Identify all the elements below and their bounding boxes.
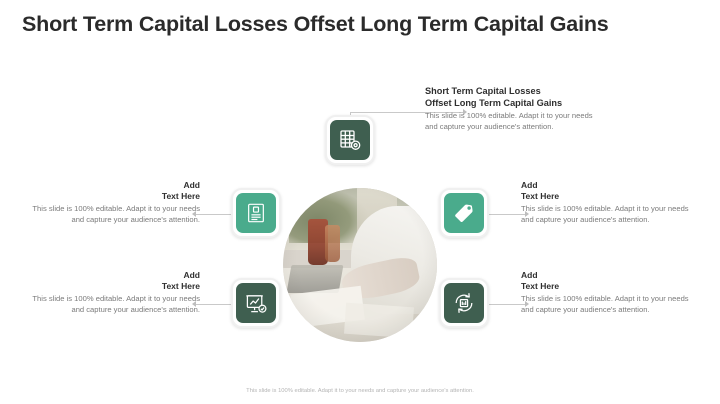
icon-tile-top[interactable] [325,115,375,165]
connector-segment [196,214,232,215]
page-title: Short Term Capital Losses Offset Long Te… [22,12,682,37]
icon-tile-left-2[interactable] [231,278,281,328]
text-block-top-body: This slide is 100% editable. Adapt it to… [425,111,603,132]
icon-tile-right-1-inner [444,193,484,233]
text-block-top: Short Term Capital Losses Offset Long Te… [425,86,603,132]
text-block-right-1-heading: Add Text Here [521,180,693,202]
price-tag-icon [452,201,476,225]
center-circular-photo [283,188,437,342]
table-grid-badge-icon [338,128,362,152]
text-block-left-1: Add Text Here This slide is 100% editabl… [28,180,200,225]
icon-tile-right-1[interactable] [439,188,489,238]
icon-tile-left-2-inner [236,283,276,323]
slide-footer-note: This slide is 100% editable. Adapt it to… [0,388,720,394]
connector-segment [489,214,525,215]
icon-tile-left-1-inner [236,193,276,233]
text-block-left-2: Add Text Here This slide is 100% editabl… [28,270,200,315]
text-block-right-2-body: This slide is 100% editable. Adapt it to… [521,294,693,315]
presentation-chart-icon [245,292,268,315]
text-block-right-1: Add Text Here This slide is 100% editabl… [521,180,693,225]
connector-segment [489,304,525,305]
icon-tile-right-2-inner [444,283,484,323]
text-block-right-1-body: This slide is 100% editable. Adapt it to… [521,204,693,225]
text-block-right-2: Add Text Here This slide is 100% editabl… [521,270,693,315]
icon-tile-right-2[interactable] [439,278,489,328]
text-block-left-1-heading: Add Text Here [28,180,200,202]
text-block-left-2-heading: Add Text Here [28,270,200,292]
photo-vignette [283,188,437,342]
text-block-left-1-body: This slide is 100% editable. Adapt it to… [28,204,200,225]
icon-tile-top-inner [330,120,370,160]
slide-canvas: Short Term Capital Losses Offset Long Te… [0,0,720,404]
icon-tile-left-1[interactable] [231,188,281,238]
text-block-left-2-body: This slide is 100% editable. Adapt it to… [28,294,200,315]
refresh-chart-icon [452,291,476,315]
connector-segment [196,304,232,305]
text-block-top-heading: Short Term Capital Losses Offset Long Te… [425,86,603,109]
document-certificate-icon [245,202,267,224]
text-block-right-2-heading: Add Text Here [521,270,693,292]
